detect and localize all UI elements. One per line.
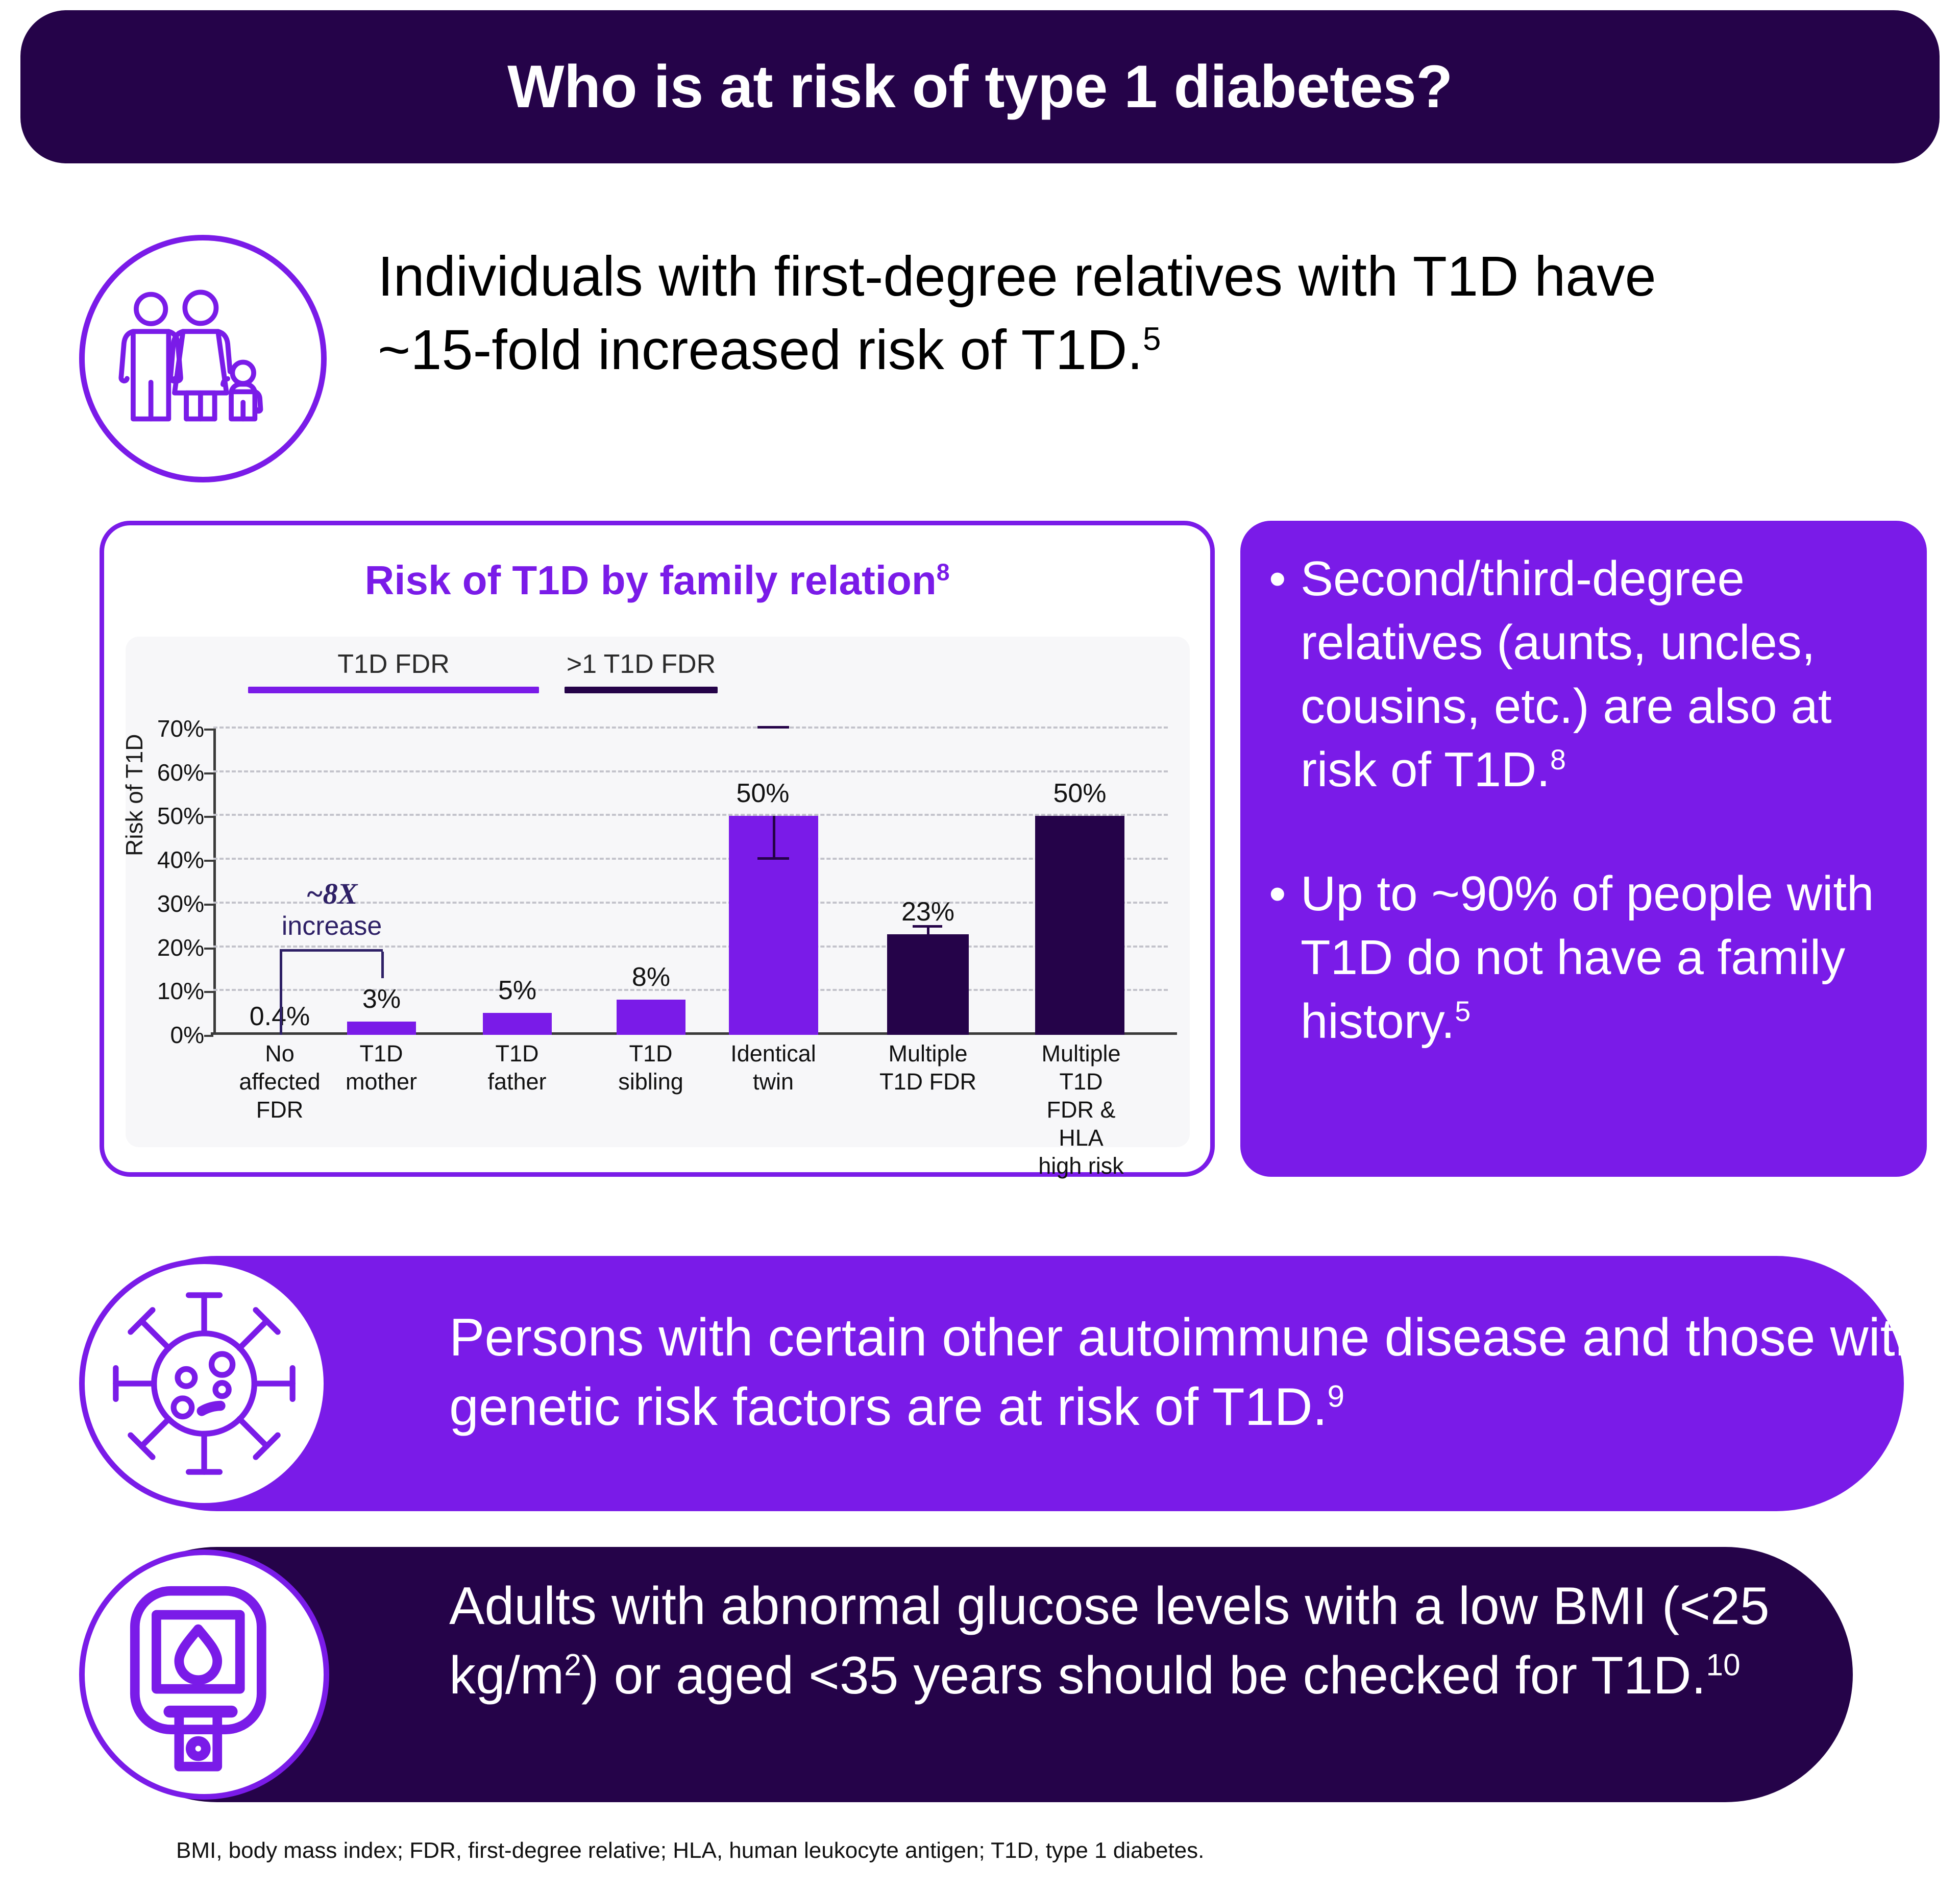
glucose-band-bmi-exponent: 2 xyxy=(564,1647,581,1682)
autoimmune-band: Persons with certain other autoimmune di… xyxy=(89,1256,1904,1511)
x-cat-t1d-mother: T1D mother xyxy=(346,1040,417,1096)
bullet-marker: • xyxy=(1269,862,1301,1053)
statement-text: Individuals with first-degree relatives … xyxy=(378,240,1924,387)
x-cat-t1d-father: T1D father xyxy=(487,1040,546,1096)
error-cap-lower-identical-twin xyxy=(757,857,789,860)
list-item: • Up to ~90% of people with T1D do not h… xyxy=(1269,862,1898,1053)
glucose-band-text: Adults with abnormal glucose levels with… xyxy=(449,1571,1878,1710)
bar-multiple-t1d-fdr-hla: 50% xyxy=(1035,816,1124,1035)
page-title-bar: Who is at risk of type 1 diabetes? xyxy=(20,10,1940,163)
list-item: • Second/third-degree relatives (aunts, … xyxy=(1269,547,1898,802)
group-header-t1d-fdr: T1D FDR xyxy=(248,649,539,693)
y-tick-0: 0% xyxy=(170,1021,213,1049)
y-tick-20: 20% xyxy=(157,934,213,961)
group-header-t1d-fdr-label: T1D FDR xyxy=(248,649,539,680)
bar-value-multiple-t1d-fdr-hla: 50% xyxy=(1053,778,1106,809)
footnote: BMI, body mass index; FDR, first-degree … xyxy=(176,1838,1204,1863)
bar-value-identical-twin: 50% xyxy=(736,778,789,809)
statement-row: Individuals with first-degree relatives … xyxy=(0,225,1960,490)
glucose-band-citation: 10 xyxy=(1706,1647,1741,1682)
virus-icon xyxy=(79,1258,329,1509)
statement-line2: ~15-fold increased risk of T1D. xyxy=(378,319,1143,381)
chart-title-text: Risk of T1D by family relation xyxy=(364,558,936,603)
bullet-citation-2: 5 xyxy=(1455,996,1471,1027)
autoimmune-band-text: Persons with certain other autoimmune di… xyxy=(449,1303,1929,1442)
bullet-marker: • xyxy=(1269,547,1301,802)
statement-line1: Individuals with first-degree relatives … xyxy=(378,245,1656,308)
error-cap-upper-multiple-t1d-fdr xyxy=(913,925,942,928)
autoimmune-band-citation: 9 xyxy=(1327,1379,1344,1414)
y-tick-70: 70% xyxy=(157,715,213,742)
bullet-text-2: Up to ~90% of people with T1D do not hav… xyxy=(1301,862,1898,1053)
bar-t1d-sibling: 8% xyxy=(617,1000,685,1035)
bar-t1d-mother: 3% xyxy=(347,1022,416,1035)
bar-value-t1d-sibling: 8% xyxy=(632,962,670,992)
chart-title-citation: 8 xyxy=(937,559,950,585)
bar-multiple-t1d-fdr: 23% xyxy=(887,934,969,1035)
y-tick-40: 40% xyxy=(157,846,213,874)
increase-bracket-right xyxy=(381,952,384,978)
family-icon xyxy=(79,235,327,482)
chart-card: Risk of T1D by family relation8 T1D FDR … xyxy=(100,521,1215,1177)
plot-panel: T1D FDR >1 T1D FDR Risk of T1D 70% 60% 5… xyxy=(126,637,1190,1147)
group-header-multi-fdr-label: >1 T1D FDR xyxy=(565,649,718,680)
error-bar-identical-twin xyxy=(773,816,775,860)
x-cat-identical-twin: Identical twin xyxy=(730,1040,816,1096)
glucose-band: Adults with abnormal glucose levels with… xyxy=(89,1547,1853,1802)
increase-bracket-left xyxy=(280,952,282,1035)
group-header-multi-fdr-line xyxy=(565,687,718,693)
chart-axes: 70% 60% 50% 40% 30% 20% 10% 0% 0.4% 3% 5… xyxy=(213,729,1168,1035)
bar-value-t1d-mother: 3% xyxy=(362,984,401,1014)
bullet-citation-1: 8 xyxy=(1550,744,1566,776)
page-title: Who is at risk of type 1 diabetes? xyxy=(507,52,1453,122)
y-axis-label: Risk of T1D xyxy=(120,734,148,856)
increase-annotation-multiplier: ~8X xyxy=(306,877,358,911)
statement-citation: 5 xyxy=(1143,320,1161,357)
chart-title: Risk of T1D by family relation8 xyxy=(104,557,1210,604)
bullet-card: • Second/third-degree relatives (aunts, … xyxy=(1240,521,1927,1177)
increase-annotation-label: increase xyxy=(282,911,382,941)
bar-value-multiple-t1d-fdr: 23% xyxy=(901,896,954,927)
glucose-meter-icon xyxy=(79,1549,329,1800)
error-cap-upper-identical-twin xyxy=(757,726,789,729)
group-header-t1d-fdr-line xyxy=(248,687,539,693)
y-tick-10: 10% xyxy=(157,977,213,1005)
x-cat-multiple-t1d-fdr-hla: Multiple T1D FDR & HLA high risk xyxy=(1038,1040,1124,1180)
group-header-multi-fdr: >1 T1D FDR xyxy=(565,649,718,693)
bullet-text-1: Second/third-degree relatives (aunts, un… xyxy=(1301,547,1898,802)
x-axis-categories: No affected FDR T1D mother T1D father T1… xyxy=(213,1040,1168,1137)
y-tick-60: 60% xyxy=(157,759,213,786)
error-bar-multiple-t1d-fdr xyxy=(927,928,929,934)
bar-value-t1d-father: 5% xyxy=(498,975,536,1006)
x-cat-multiple-t1d-fdr: Multiple T1D FDR xyxy=(879,1040,976,1096)
chart-and-bullets-row: Risk of T1D by family relation8 T1D FDR … xyxy=(0,521,1960,1184)
y-tick-30: 30% xyxy=(157,890,213,917)
x-cat-no-affected-fdr: No affected FDR xyxy=(239,1040,320,1124)
x-cat-t1d-sibling: T1D sibling xyxy=(618,1040,683,1096)
increase-bracket-top xyxy=(280,949,383,952)
y-tick-50: 50% xyxy=(157,802,213,830)
bar-t1d-father: 5% xyxy=(483,1013,552,1035)
